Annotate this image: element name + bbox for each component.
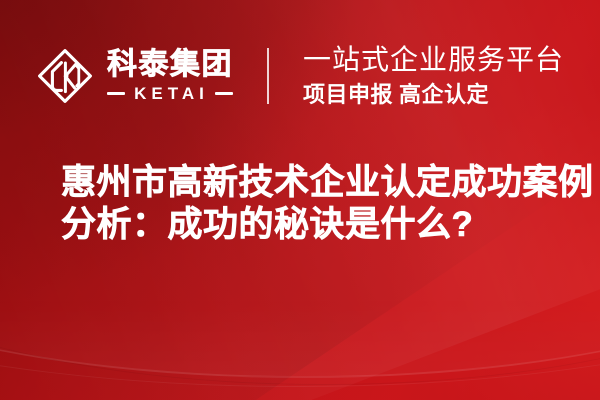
- tagline-block: 一站式企业服务平台 项目申报 高企认定: [303, 47, 564, 106]
- banner-header: 科泰集团 KETAI 一站式企业服务平台 项目申报 高企认定: [0, 40, 600, 112]
- header-divider: [267, 48, 269, 104]
- brand-name-cn: 科泰集团: [107, 50, 233, 80]
- brand-name-latin: KETAI: [131, 85, 209, 102]
- ketai-diamond-monogram-icon: [36, 47, 94, 105]
- brand-latin-row: KETAI: [107, 85, 233, 102]
- brand-lockup[interactable]: 科泰集团 KETAI 一站式企业服务平台 项目申报 高企认定: [36, 47, 564, 106]
- page-title-line-1: 惠州市高新技术企业认定成功案例: [61, 162, 567, 204]
- latin-rule-left: [107, 92, 125, 95]
- promo-banner: 科泰集团 KETAI 一站式企业服务平台 项目申报 高企认定 惠州市高新技术企业…: [0, 0, 600, 400]
- tagline-primary: 一站式企业服务平台: [303, 47, 564, 75]
- brand-wordmark: 科泰集团 KETAI: [107, 50, 233, 102]
- page-title: 惠州市高新技术企业认定成功案例 分析：成功的秘诀是什么?: [61, 162, 567, 246]
- page-title-line-2: 分析：成功的秘诀是什么?: [61, 204, 567, 246]
- tagline-secondary: 项目申报 高企认定: [303, 84, 564, 106]
- latin-rule-right: [215, 92, 233, 95]
